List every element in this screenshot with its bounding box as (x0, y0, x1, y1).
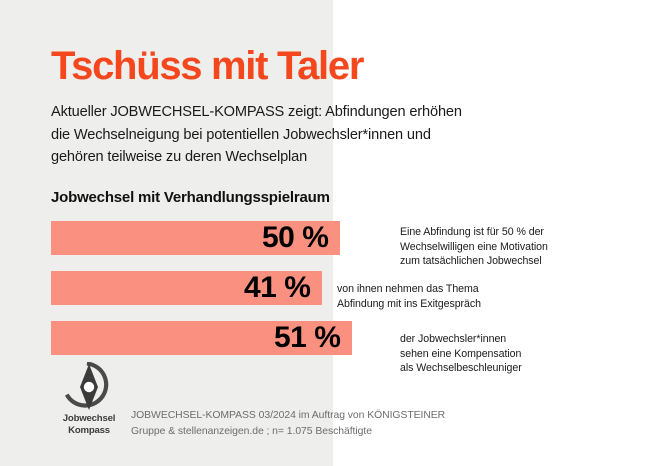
bar-annotation-line: Abfindung mit ins Exitgespräch (337, 297, 481, 312)
logo-text-line-2: Kompass (50, 425, 128, 437)
bar-value-label: 41 % (244, 273, 310, 303)
bar-annotation-line: sehen eine Kompensation (400, 347, 522, 362)
logo-text-line-1: Jobwechsel (50, 413, 128, 425)
bar-annotation-line: von ihnen nehmen das Thema (337, 282, 481, 297)
infographic-content: Tschüss mit Taler Aktueller JOBWECHSEL-K… (0, 0, 665, 466)
subtitle-line-3: gehören teilweise zu deren Wechselplan (51, 146, 611, 169)
bar-annotation-line: der Jobwechsler*innen (400, 332, 522, 347)
bar-annotation-line: Wechselwilligen eine Motivation (400, 240, 548, 255)
bar-value-label: 50 % (262, 223, 328, 253)
footer-line-1: JOBWECHSEL-KOMPASS 03/2024 im Auftrag vo… (131, 408, 445, 424)
bar-annotation: von ihnen nehmen das Thema Abfindung mit… (337, 282, 481, 311)
infographic-canvas: Tschüss mit Taler Aktueller JOBWECHSEL-K… (0, 0, 665, 466)
bar-value-label: 51 % (274, 323, 340, 353)
subtitle-line-1: Aktueller JOBWECHSEL-KOMPASS zeigt: Abfi… (51, 101, 611, 124)
bar-annotation-line: Eine Abfindung ist für 50 % der (400, 225, 548, 240)
page-title: Tschüss mit Taler (51, 44, 363, 88)
bar-annotation: Eine Abfindung ist für 50 % der Wechselw… (400, 225, 548, 269)
compass-icon (61, 362, 117, 412)
subtitle: Aktueller JOBWECHSEL-KOMPASS zeigt: Abfi… (51, 101, 611, 169)
section-heading: Jobwechsel mit Verhandlungsspielraum (51, 188, 330, 208)
footer-line-2: Gruppe & stellenanzeigen.de ; n= 1.075 B… (131, 424, 445, 440)
bar-annotation-line: als Wechselbeschleuniger (400, 361, 522, 376)
bar-annotation-line: zum tatsächlichen Jobwechsel (400, 254, 548, 269)
logo: Jobwechsel Kompass (50, 362, 128, 436)
subtitle-line-2: die Wechselneigung bei potentiellen Jobw… (51, 124, 611, 147)
logo-text: Jobwechsel Kompass (50, 413, 128, 436)
footer-source-note: JOBWECHSEL-KOMPASS 03/2024 im Auftrag vo… (131, 408, 445, 439)
bar-annotation: der Jobwechsler*innen sehen eine Kompens… (400, 332, 522, 376)
